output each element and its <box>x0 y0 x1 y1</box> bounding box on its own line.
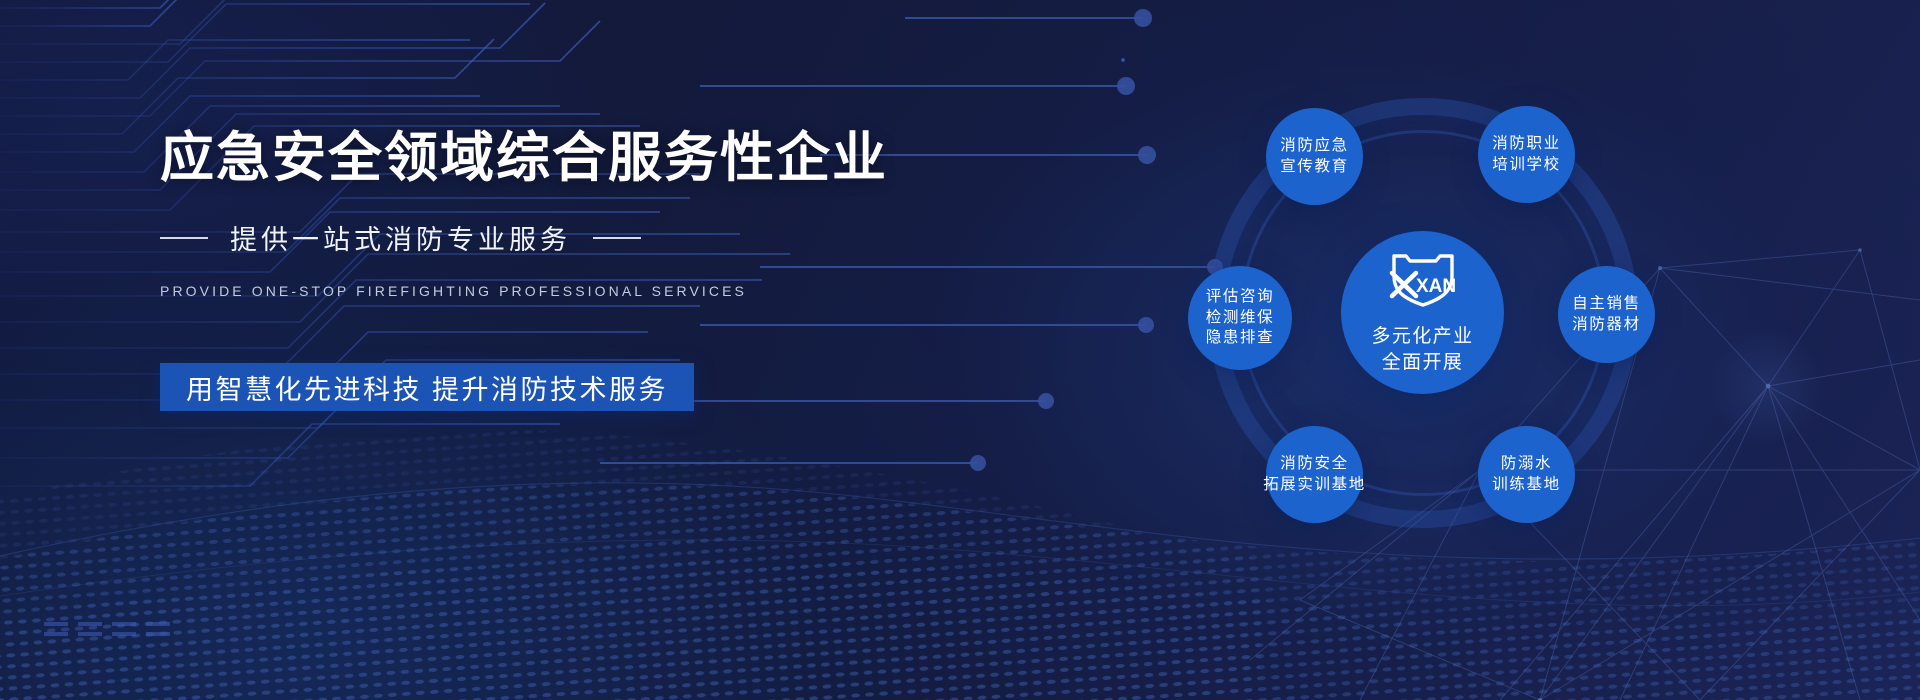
service-node-top-right[interactable]: 消防职业 培训学校 <box>1478 106 1575 203</box>
logo-text: XAN <box>1416 276 1456 297</box>
shield-icon: XAN <box>1386 250 1460 316</box>
node-line-2: 消防器材 <box>1572 315 1640 336</box>
center-line-1: 多元化产业 <box>1371 324 1473 349</box>
cta-banner-bar[interactable]: 用智慧化先进科技 提升消防技术服务 <box>160 363 694 411</box>
node-line-2: 拓展实训基地 <box>1263 475 1366 496</box>
english-tagline: PROVIDE ONE-STOP FIREFIGHTING PROFESSION… <box>160 283 920 299</box>
banner-copy: 应急安全领域综合服务性企业 提供一站式消防专业服务 PROVIDE ONE-ST… <box>160 128 920 411</box>
diagram-center-node[interactable]: XAN 多元化产业 全面开展 <box>1341 231 1504 394</box>
service-node-top-left[interactable]: 消防应急 宣传教育 <box>1266 108 1363 205</box>
node-line-2: 检测维保 <box>1206 308 1274 329</box>
node-line-2: 宣传教育 <box>1280 157 1348 178</box>
rule-left-icon <box>160 237 208 239</box>
node-line-3: 隐患排查 <box>1206 328 1274 349</box>
service-node-left[interactable]: 评估咨询 检测维保 隐患排查 <box>1188 266 1292 370</box>
node-line-1: 消防应急 <box>1280 136 1348 157</box>
subtitle-row: 提供一站式消防专业服务 <box>160 218 920 257</box>
service-node-bottom-left[interactable]: 消防安全 拓展实训基地 <box>1266 426 1363 523</box>
rule-right-icon <box>593 237 641 239</box>
node-line-1: 消防安全 <box>1280 454 1348 475</box>
services-circle-diagram: XAN 多元化产业 全面开展 消防应急 宣传教育 消防职业 培训学校 评估咨询 … <box>1148 88 1808 618</box>
node-line-1: 消防职业 <box>1492 134 1560 155</box>
service-node-right[interactable]: 自主销售 消防器材 <box>1558 266 1655 363</box>
subtitle: 提供一站式消防专业服务 <box>230 218 571 257</box>
node-line-2: 训练基地 <box>1492 475 1560 496</box>
hero-banner: 应急安全领域综合服务性企业 提供一站式消防专业服务 PROVIDE ONE-ST… <box>0 0 1920 700</box>
node-line-1: 自主销售 <box>1572 294 1640 315</box>
node-line-1: 评估咨询 <box>1206 287 1274 308</box>
center-line-2: 全面开展 <box>1382 350 1464 375</box>
node-line-2: 培训学校 <box>1492 155 1560 176</box>
page-title: 应急安全领域综合服务性企业 <box>160 128 920 188</box>
node-line-1: 防溺水 <box>1501 454 1552 475</box>
service-node-bottom-right[interactable]: 防溺水 训练基地 <box>1478 426 1575 523</box>
cta-banner-label: 用智慧化先进科技 提升消防技术服务 <box>186 368 668 407</box>
